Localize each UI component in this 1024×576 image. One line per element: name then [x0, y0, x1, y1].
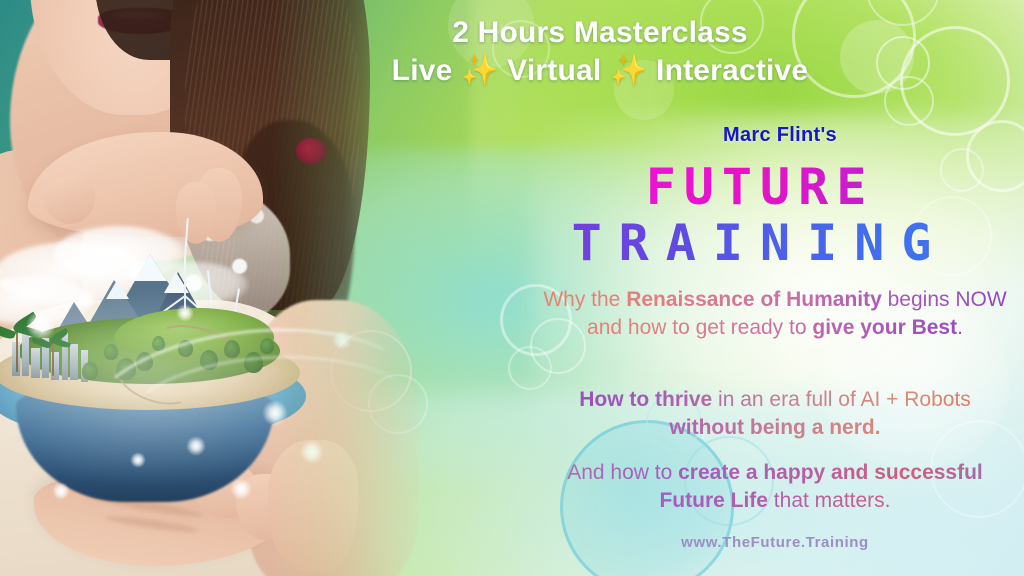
p1-bold1: Renaissance of Humanity	[626, 288, 882, 311]
paragraph-renaissance: Why the Renaissance of Humanity begins N…	[540, 286, 1010, 342]
website-url[interactable]: www.TheFuture.Training	[540, 534, 1010, 551]
p1-bold2: give your Best	[812, 316, 957, 339]
headline-interactive: Interactive	[656, 54, 808, 87]
p2-bold1: How to thrive	[579, 388, 712, 411]
byline: Marc Flint's	[560, 124, 1000, 147]
headline: 2 Hours Masterclass Live ✨ Virtual ✨ Int…	[300, 14, 900, 91]
paragraph-thrive: How to thrive in an era full of AI + Rob…	[540, 386, 1010, 442]
poster-canvas: 2 Hours Masterclass Live ✨ Virtual ✨ Int…	[0, 0, 1024, 576]
headline-virtual: Virtual	[507, 54, 601, 87]
sparkle-icon: ✨	[610, 54, 648, 87]
p1-seg3: .	[957, 316, 963, 339]
p2-bold2: without being a nerd.	[669, 416, 880, 439]
sparkle-icon: ✨	[461, 54, 499, 87]
logo-word-future: FUTURE	[520, 162, 1000, 212]
p3-seg1: And how to	[567, 461, 678, 484]
headline-line-2: Live ✨ Virtual ✨ Interactive	[300, 52, 900, 90]
p2-seg1: in an era full of AI + Robots	[712, 388, 971, 411]
brand-logo: FUTURE TRAINING	[520, 162, 1000, 270]
rose-accessory	[296, 138, 326, 164]
p3-seg2: that matters.	[768, 489, 891, 512]
paragraph-future-life: And how to create a happy and successful…	[540, 459, 1010, 515]
p1-seg1: Why the	[543, 288, 626, 311]
headline-live: Live	[392, 54, 453, 87]
logo-word-training: TRAINING	[520, 216, 1000, 270]
headline-line-1: 2 Hours Masterclass	[300, 14, 900, 52]
